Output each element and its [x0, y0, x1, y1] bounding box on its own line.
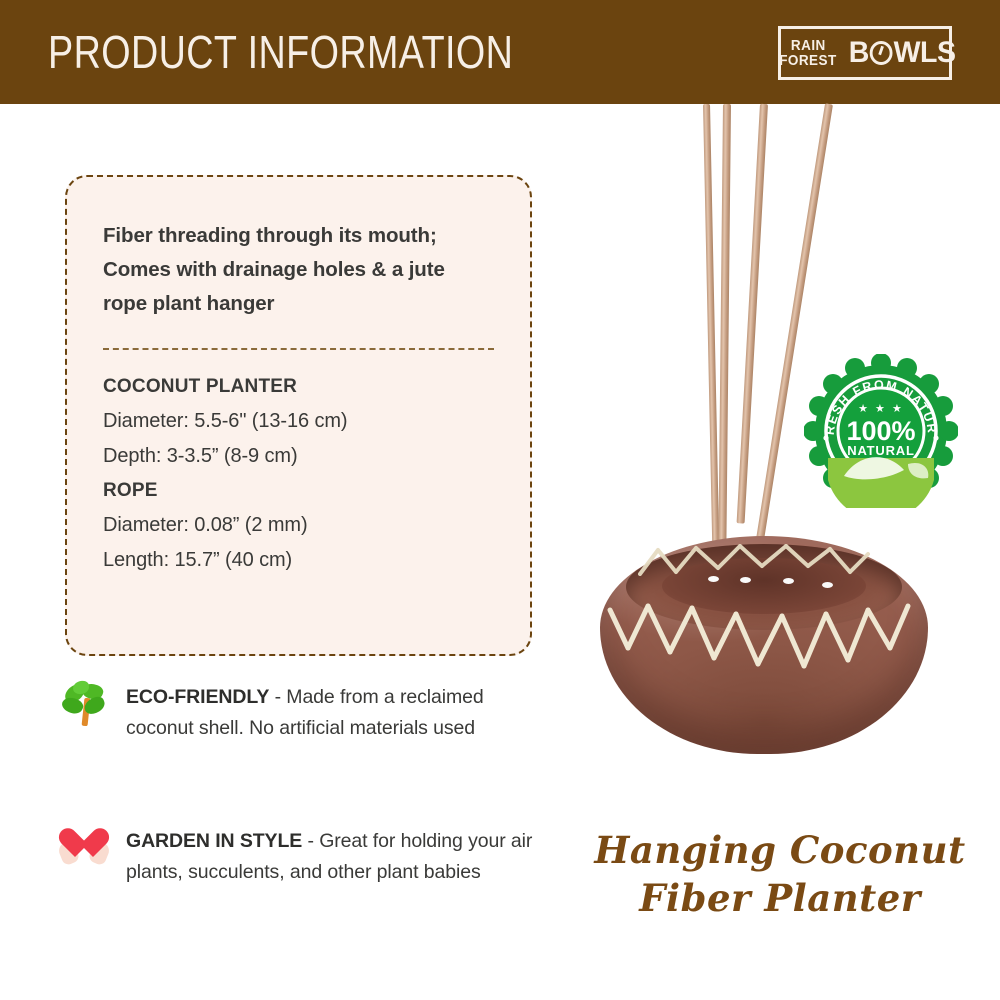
feature-text: GARDEN IN STYLE - Great for holding your… [126, 820, 538, 888]
page-title: PRODUCT INFORMATION [48, 25, 513, 79]
brand-wordmark-pre: B [849, 36, 869, 70]
brand-logo-stacked-words: RAIN FOREST [776, 38, 840, 68]
spec-heading: ROPE [103, 480, 494, 502]
fiber-threading [600, 536, 928, 768]
brand-logo-line2: FOREST [779, 53, 836, 68]
product-name-line2: Fiber Planter [560, 874, 1000, 922]
spec-line-rope-diameter: Diameter: 0.08” (2 mm) [103, 514, 494, 537]
feature-title: ECO-FRIENDLY [126, 686, 269, 708]
jute-rope-strand [703, 104, 719, 544]
spec-line-diameter: Diameter: 5.5-6" (13-16 cm) [103, 410, 494, 433]
specifications-box: Fiber threading through its mouth; Comes… [65, 175, 532, 656]
spec-group-planter: COCONUT PLANTER Diameter: 5.5-6" (13-16 … [103, 376, 494, 468]
feature-eco-friendly: ECO-FRIENDLY - Made from a reclaimed coc… [58, 676, 538, 744]
jute-rope-strand [718, 104, 731, 549]
spec-line-rope-length: Length: 15.7” (40 cm) [103, 549, 494, 572]
product-name: Hanging Coconut Fiber Planter [560, 826, 1000, 922]
badge-stars: ★ ★ ★ [858, 403, 904, 415]
badge-natural-label: NATURAL [847, 443, 914, 458]
intro-description: Fiber threading through its mouth; Comes… [103, 219, 494, 320]
feature-title: GARDEN IN STYLE [126, 830, 302, 852]
feature-garden-in-style: GARDEN IN STYLE - Great for holding your… [58, 820, 538, 888]
coconut-bowl-icon [870, 41, 893, 65]
coconut-planter-bowl [600, 536, 928, 768]
brand-wordmark-post: WLS [893, 36, 955, 70]
spec-heading: COCONUT PLANTER [103, 376, 494, 398]
feature-text: ECO-FRIENDLY - Made from a reclaimed coc… [126, 676, 538, 744]
spec-line-depth: Depth: 3-3.5” (8-9 cm) [103, 445, 494, 468]
heart-hands-icon [58, 820, 110, 872]
jute-rope-strand [737, 104, 768, 524]
spec-group-rope: ROPE Diameter: 0.08” (2 mm) Length: 15.7… [103, 480, 494, 572]
badge-percent: 100% [846, 416, 915, 446]
product-image: FRESH FROM NATURE ★ ★ ★ 100% NATURAL [560, 104, 1000, 844]
brand-logo-line1: RAIN [790, 38, 825, 53]
natural-badge: FRESH FROM NATURE ★ ★ ★ 100% NATURAL [804, 354, 958, 508]
palm-tree-icon [58, 676, 110, 728]
product-name-line1: Hanging Coconut [560, 826, 1000, 874]
brand-logo: RAIN FOREST B WLS [778, 26, 952, 80]
header-bar: PRODUCT INFORMATION RAIN FOREST B WLS [0, 0, 1000, 104]
spec-divider [103, 348, 494, 350]
brand-logo-wordmark: B WLS [849, 36, 956, 70]
